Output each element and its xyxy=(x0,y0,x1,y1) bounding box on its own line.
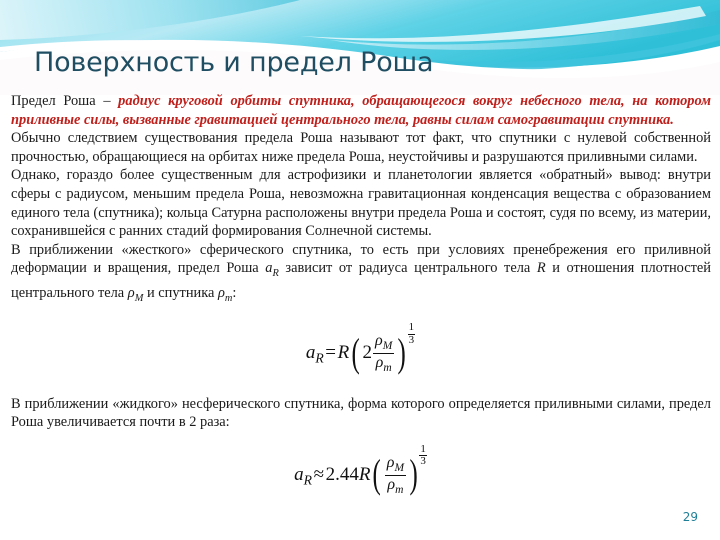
formula-rigid-exponent: 13 xyxy=(408,322,416,346)
definition-term: Предел Роша xyxy=(11,93,103,109)
formula-rigid-lhs: a xyxy=(306,342,316,363)
paragraph-consequence: Обычно следствием существования предела … xyxy=(11,129,711,166)
paragraph-inverse-conclusion: Однако, гораздо более существенным для а… xyxy=(11,166,711,240)
formula-rigid-fraction: ρMρm xyxy=(373,333,394,375)
formula-fluid-paren-close: ) xyxy=(410,458,418,490)
formula-fluid: aR ≈ 2.44R(ρMρm)13 xyxy=(294,452,428,496)
formula-fluid-numerator-sub: M xyxy=(394,462,404,474)
rigid-text-b: зависит от радиуса центрального тела xyxy=(279,260,537,276)
definition-paragraph: Предел Роша – радиус круговой орбиты спу… xyxy=(11,92,711,129)
slide-title: Поверхность и предел Роша xyxy=(34,47,433,78)
variable-rho-M: ρ xyxy=(128,285,135,301)
formula-rigid-coefficient: 2 xyxy=(363,342,373,363)
formula-fluid-denominator-wrap: ρm xyxy=(385,476,406,496)
definition-dash: – xyxy=(103,93,118,109)
formula-fluid-approx: ≈ xyxy=(314,464,324,485)
formula-rigid-exponent-num: 1 xyxy=(408,322,416,335)
variable-R: R xyxy=(537,260,546,276)
formula-rigid-denominator-sub: m xyxy=(383,362,391,374)
formula-rigid-exponent-den: 3 xyxy=(408,335,416,347)
rigid-text-e: : xyxy=(232,285,236,301)
formula-fluid-exponent-den: 3 xyxy=(419,456,427,468)
formula-rigid-numerator-sub: M xyxy=(383,340,393,352)
formula-rigid-lhs-sub: R xyxy=(315,351,323,366)
formula-fluid-exponent: 13 xyxy=(419,444,427,468)
slide-page-number: 29 xyxy=(683,510,698,524)
formula-fluid-radius: R xyxy=(359,464,371,485)
header-band-secondary xyxy=(0,0,300,40)
presentation-slide: Поверхность и предел Роша Предел Роша – … xyxy=(0,0,720,540)
formula-rigid-denominator-wrap: ρm xyxy=(373,354,394,374)
variable-rho-m: ρ xyxy=(218,285,225,301)
formula-fluid-numerator-wrap: ρM xyxy=(385,455,406,476)
paragraph-rigid-approximation: В приближении «жесткого» сферического сп… xyxy=(11,241,711,309)
formula-rigid-numerator-wrap: ρM xyxy=(373,333,394,354)
slide-body: Предел Роша – радиус круговой орбиты спу… xyxy=(11,92,711,496)
formula-rigid-radius: R xyxy=(338,342,350,363)
rigid-text-d: и спутника xyxy=(143,285,218,301)
header-ribbon-upper xyxy=(330,10,720,50)
formula-rigid-equals: = xyxy=(325,342,336,363)
formula-fluid-fraction: ρMρm xyxy=(385,455,406,497)
formula-fluid-denominator-sub: m xyxy=(395,484,403,496)
formula-fluid-lhs-sub: R xyxy=(304,473,312,488)
formula-fluid-paren-open: ( xyxy=(373,458,381,490)
formula-fluid-coefficient: 2.44 xyxy=(326,464,359,485)
formula-fluid-row: aR ≈ 2.44R(ρMρm)13 xyxy=(11,452,711,496)
formula-rigid-paren-open: ( xyxy=(352,337,360,369)
formula-fluid-denominator: ρ xyxy=(387,476,395,493)
formula-rigid: aR = R(2ρMρm)13 xyxy=(306,330,416,374)
header-streak-white xyxy=(300,6,706,42)
paragraph-fluid-approximation: В приближении «жидкого» несферического с… xyxy=(11,395,711,432)
formula-rigid-numerator: ρ xyxy=(375,332,383,349)
formula-rigid-row: aR = R(2ρMρm)13 xyxy=(11,330,711,374)
formula-fluid-lhs: a xyxy=(294,464,304,485)
formula-rigid-paren-close: ) xyxy=(398,337,406,369)
